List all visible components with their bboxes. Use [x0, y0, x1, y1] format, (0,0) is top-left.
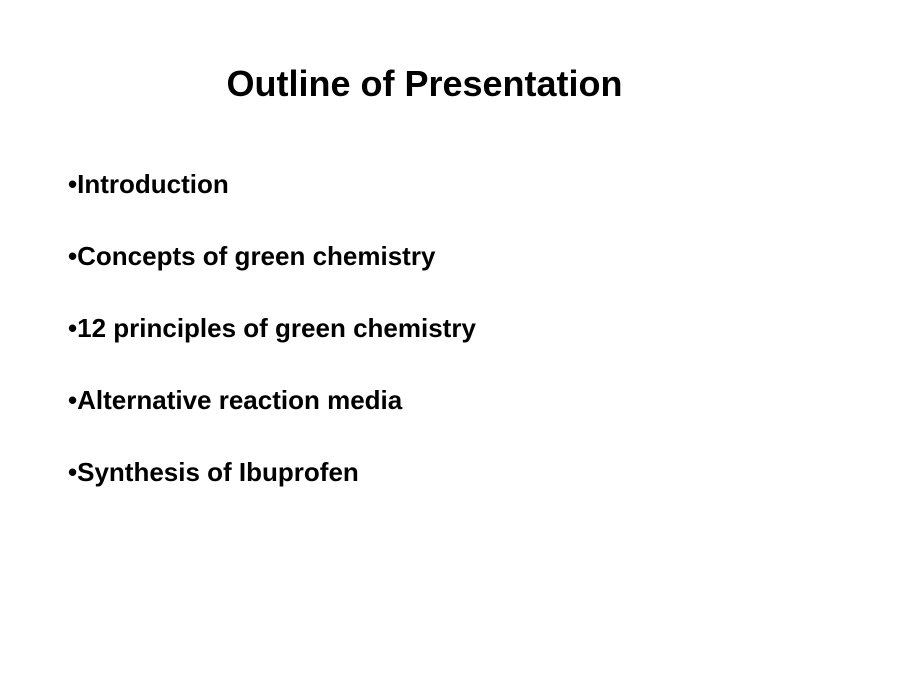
list-item-label: Synthesis of Ibuprofen [77, 457, 359, 487]
list-item-label: Concepts of green chemistry [77, 241, 435, 271]
page-title: Outline of Presentation [226, 62, 622, 106]
bullet-icon: • [68, 241, 77, 271]
bullet-icon: • [68, 457, 77, 487]
list-item: •12 principles of green chemistry [68, 310, 858, 346]
list-item-label: 12 principles of green chemistry [77, 313, 476, 343]
list-item: •Alternative reaction media [68, 382, 858, 418]
list-item-label: Introduction [77, 169, 229, 199]
list-item: •Concepts of green chemistry [68, 238, 858, 274]
bullet-icon: • [68, 385, 77, 415]
bullet-icon: • [68, 313, 77, 343]
slide-title-placeholder: Outline of Presentation [56, 38, 793, 98]
list-item: •Synthesis of Ibuprofen [68, 454, 858, 490]
slide-body-placeholder: •Introduction •Concepts of green chemist… [68, 166, 858, 490]
list-item-label: Alternative reaction media [77, 385, 402, 415]
presentation-slide: Outline of Presentation •Introduction •C… [0, 0, 900, 675]
bullet-icon: • [68, 169, 77, 199]
list-item: •Introduction [68, 166, 858, 202]
